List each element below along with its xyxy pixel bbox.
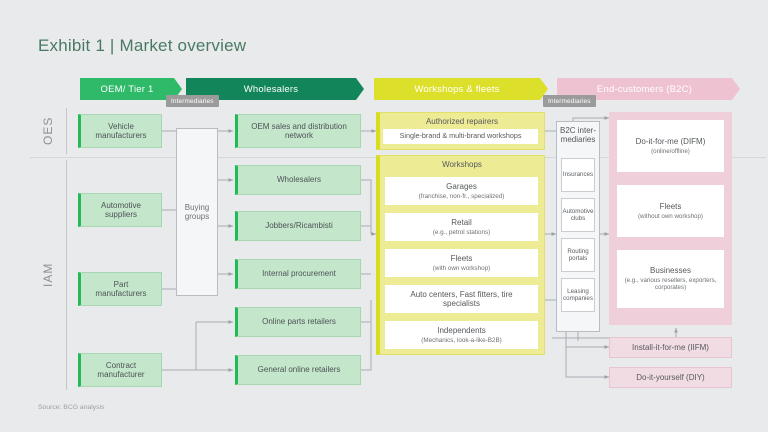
supplier-label-line1: Automotive	[101, 201, 141, 210]
end-customer-sub: (online/offline)	[651, 148, 690, 155]
supplier-label-line1: Contract	[106, 361, 136, 370]
authorized-repairers-item-label: Single-brand & multi-brand workshops	[400, 132, 522, 140]
buying-groups-box[interactable]: Buying groups	[176, 128, 218, 296]
b2c-item-automotive-clubs[interactable]: Automotive clubs	[561, 198, 595, 232]
distribution-box-wholesalers[interactable]: Wholesalers	[235, 165, 361, 195]
workshop-item-independents[interactable]: Independents (Mechanics, look-a-like-B2B…	[385, 321, 538, 349]
workshop-item-title: Retail	[451, 218, 471, 227]
workshop-item-retail[interactable]: Retail (e.g., petrol stations)	[385, 213, 538, 241]
supplier-label-line1: Vehicle	[108, 122, 134, 131]
workshop-item-title: Independents	[437, 326, 486, 335]
supplier-box-contract-manufacturer[interactable]: Contract manufacturer	[78, 353, 162, 387]
end-customer-title: Fleets	[660, 202, 682, 212]
authorized-repairers-title: Authorized repairers	[380, 113, 544, 126]
supplier-label-line2: manufacturer	[97, 370, 144, 379]
end-customer-box-fleets[interactable]: Fleets (without own workshop)	[617, 185, 724, 237]
workshop-item-sub: (franchise, non-fr., specialized)	[419, 193, 505, 200]
workshops-title: Workshops	[380, 156, 544, 169]
end-customer-sub: (e.g., various resellers, exporters, cor…	[623, 277, 718, 292]
supplier-label-line2: manufacturers	[95, 131, 146, 140]
distribution-box-internal-procurement[interactable]: Internal procurement	[235, 259, 361, 289]
end-customer-label: Do-it-yourself (DIY)	[636, 373, 704, 382]
distribution-label-line1: Internal procurement	[262, 269, 336, 278]
workshop-item-auto-centers[interactable]: Auto centers, Fast fitters, tire special…	[385, 285, 538, 313]
authorized-repairers-item[interactable]: Single-brand & multi-brand workshops	[383, 129, 538, 144]
distribution-box-jobbers-ricambisti[interactable]: Jobbers/Ricambisti	[235, 211, 361, 241]
end-customer-label: Install-it-for-me (IIFM)	[632, 343, 709, 352]
workshop-item-sub: (with own workshop)	[433, 265, 490, 272]
end-customer-box-difm[interactable]: Do-it-for-me (DIFM) (online/offline)	[617, 120, 724, 172]
b2c-item-routing-portals[interactable]: Routing portals	[561, 238, 595, 272]
supplier-box-part-manufacturers[interactable]: Part manufacturers	[78, 272, 162, 306]
distribution-label-line2: network	[285, 131, 313, 140]
end-customer-title: Businesses	[650, 266, 691, 276]
workshop-item-title: Garages	[446, 182, 477, 191]
b2c-item-label: Routing portals	[562, 248, 594, 262]
b2c-item-label: Insurances	[563, 171, 593, 178]
b2c-item-leasing-companies[interactable]: Leasing companies	[561, 278, 595, 312]
source-note: Source: BCG analysis	[38, 404, 105, 411]
workshop-item-sub: (Mechanics, look-a-like-B2B)	[421, 337, 502, 344]
distribution-label-line1: Jobbers/Ricambisti	[265, 221, 333, 230]
distribution-label-line1: Wholesalers	[277, 175, 321, 184]
b2c-item-label: Automotive clubs	[562, 208, 594, 222]
distribution-label-line1: Online parts retailers	[262, 317, 336, 326]
end-customer-box-iifm[interactable]: Install-it-for-me (IIFM)	[609, 337, 732, 358]
end-customer-box-businesses[interactable]: Businesses (e.g., various resellers, exp…	[617, 250, 724, 308]
distribution-box-general-online-retailers[interactable]: General online retailers	[235, 355, 361, 385]
workshop-item-garages[interactable]: Garages (franchise, non-fr., specialized…	[385, 177, 538, 205]
workshop-item-sub: (e.g., petrol stations)	[433, 229, 490, 236]
supplier-label-line1: Part	[114, 280, 129, 289]
workshop-item-title: Fleets	[451, 254, 473, 263]
supplier-label-line2: suppliers	[105, 210, 137, 219]
b2c-item-label: Leasing companies	[562, 288, 594, 302]
end-customer-sub: (without own workshop)	[638, 213, 703, 220]
distribution-label-line1: OEM sales and distribution	[251, 122, 347, 131]
b2c-title-line2: mediaries	[561, 135, 596, 144]
slide-canvas: Exhibit 1 | Market overview OEM/ Tier 1 …	[0, 0, 768, 432]
supplier-box-vehicle-manufacturers[interactable]: Vehicle manufacturers	[78, 114, 162, 148]
distribution-box-online-parts-retailers[interactable]: Online parts retailers	[235, 307, 361, 337]
distribution-label-line1: General online retailers	[258, 365, 341, 374]
distribution-box-oem-sales[interactable]: OEM sales and distribution network	[235, 114, 361, 148]
b2c-item-insurances[interactable]: Insurances	[561, 158, 595, 192]
end-customer-box-diy[interactable]: Do-it-yourself (DIY)	[609, 367, 732, 388]
supplier-box-automotive-suppliers[interactable]: Automotive suppliers	[78, 193, 162, 227]
buying-groups-label-line1: Buying	[185, 203, 209, 212]
buying-groups-label-line2: groups	[185, 212, 209, 221]
supplier-label-line2: manufacturers	[95, 289, 146, 298]
b2c-intermediaries-title: B2C inter- mediaries	[557, 122, 599, 144]
workshop-item-title: Auto centers, Fast fitters, tire special…	[393, 290, 530, 309]
end-customer-title: Do-it-for-me (DIFM)	[636, 137, 706, 147]
workshop-item-fleets[interactable]: Fleets (with own workshop)	[385, 249, 538, 277]
b2c-title-line1: B2C inter-	[560, 126, 596, 135]
